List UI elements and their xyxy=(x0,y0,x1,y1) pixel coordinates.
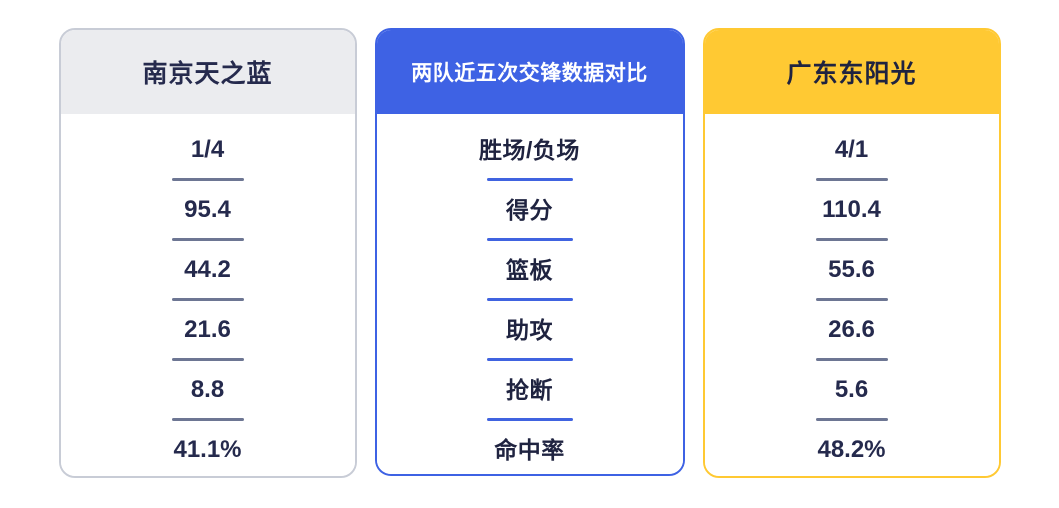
row-divider xyxy=(487,238,573,241)
stat-row: 110.4 xyxy=(705,190,999,250)
stat-value: 110.4 xyxy=(822,190,881,230)
stats-comparison-board: 南京天之蓝 1/4 95.4 44.2 21.6 8.8 xyxy=(0,0,1059,508)
stat-value: 48.2% xyxy=(817,430,885,470)
metric-label: 命中率 xyxy=(494,430,565,470)
metric-row: 得分 xyxy=(377,190,683,250)
row-divider xyxy=(172,298,244,301)
stat-value: 4/1 xyxy=(835,130,868,170)
row-divider xyxy=(172,238,244,241)
metric-label: 胜场/负场 xyxy=(479,130,580,170)
metric-row: 抢断 xyxy=(377,370,683,430)
stat-row: 48.2% xyxy=(705,430,999,470)
row-divider xyxy=(816,418,888,421)
row-divider xyxy=(487,298,573,301)
metric-row: 篮板 xyxy=(377,250,683,310)
comparison-title: 两队近五次交锋数据对比 xyxy=(377,30,683,114)
metric-label-list: 胜场/负场 得分 篮板 助攻 抢断 命中率 xyxy=(377,114,683,474)
row-divider xyxy=(487,358,573,361)
team-left-stats-list: 1/4 95.4 44.2 21.6 8.8 41.1% xyxy=(61,114,355,476)
stat-value: 41.1% xyxy=(173,430,241,470)
stat-row: 1/4 xyxy=(61,130,355,190)
stat-value: 55.6 xyxy=(828,250,875,290)
stat-row: 55.6 xyxy=(705,250,999,310)
metric-label: 篮板 xyxy=(506,250,553,290)
row-divider xyxy=(816,358,888,361)
stat-value: 21.6 xyxy=(184,310,231,350)
stat-row: 21.6 xyxy=(61,310,355,370)
stat-row: 26.6 xyxy=(705,310,999,370)
stat-value: 95.4 xyxy=(184,190,231,230)
row-divider xyxy=(816,238,888,241)
team-right-title: 广东东阳光 xyxy=(705,30,999,114)
stat-value: 44.2 xyxy=(184,250,231,290)
stat-value: 8.8 xyxy=(191,370,224,410)
metrics-card-center: 两队近五次交锋数据对比 胜场/负场 得分 篮板 助攻 抢断 xyxy=(375,28,685,476)
stat-row: 5.6 xyxy=(705,370,999,430)
metric-label: 得分 xyxy=(506,190,553,230)
team-card-right: 广东东阳光 4/1 110.4 55.6 26.6 5.6 xyxy=(703,28,1001,478)
team-right-stats-list: 4/1 110.4 55.6 26.6 5.6 48.2% xyxy=(705,114,999,476)
stat-value: 5.6 xyxy=(835,370,868,410)
stat-row: 8.8 xyxy=(61,370,355,430)
row-divider xyxy=(172,358,244,361)
metric-row: 命中率 xyxy=(377,430,683,470)
metric-label: 助攻 xyxy=(506,310,553,350)
metric-row: 胜场/负场 xyxy=(377,130,683,190)
metric-row: 助攻 xyxy=(377,310,683,370)
team-card-left: 南京天之蓝 1/4 95.4 44.2 21.6 8.8 xyxy=(59,28,357,478)
stat-value: 1/4 xyxy=(191,130,224,170)
row-divider xyxy=(172,178,244,181)
stat-row: 44.2 xyxy=(61,250,355,310)
row-divider xyxy=(816,178,888,181)
stat-value: 26.6 xyxy=(828,310,875,350)
row-divider xyxy=(487,418,573,421)
row-divider xyxy=(816,298,888,301)
stat-row: 41.1% xyxy=(61,430,355,470)
row-divider xyxy=(172,418,244,421)
row-divider xyxy=(487,178,573,181)
team-left-title: 南京天之蓝 xyxy=(61,30,355,114)
stat-row: 4/1 xyxy=(705,130,999,190)
stat-row: 95.4 xyxy=(61,190,355,250)
metric-label: 抢断 xyxy=(506,370,553,410)
